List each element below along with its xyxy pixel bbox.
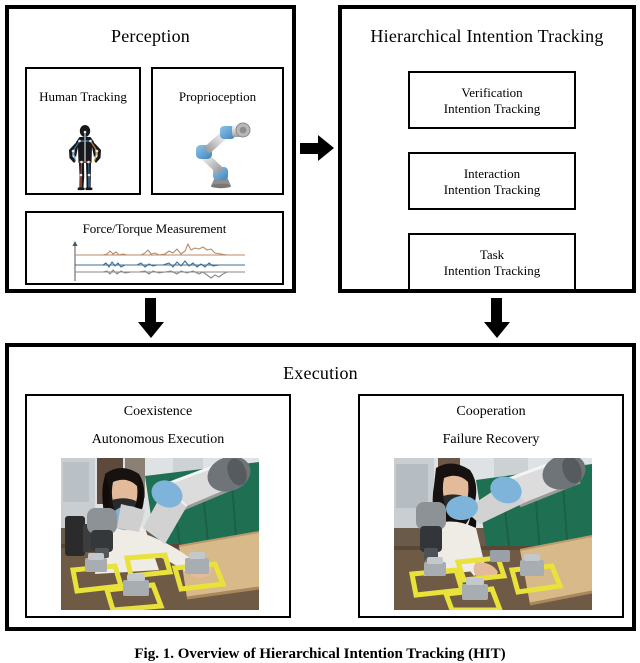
interaction-line2: Intention Tracking xyxy=(410,182,574,198)
interaction-intention-tracking-box: Interaction Intention Tracking xyxy=(408,152,576,210)
arrow-shaft xyxy=(145,298,156,324)
coexistence-subtitle-label: Autonomous Execution xyxy=(27,432,289,447)
force-torque-label: Force/Torque Measurement xyxy=(27,221,282,236)
proprioception-label: Proprioception xyxy=(153,89,282,104)
interaction-line1: Interaction xyxy=(410,166,574,182)
perception-panel: Perception Human Tracking xyxy=(5,5,296,293)
cooperation-subtitle-label: Failure Recovery xyxy=(360,432,622,447)
task-intention-tracking-box: Task Intention Tracking xyxy=(408,233,576,291)
coexistence-mode-label: Coexistence xyxy=(27,404,289,419)
human-tracking-box: Human Tracking xyxy=(25,67,141,195)
human-skeleton-icon xyxy=(60,123,110,191)
arrow-head xyxy=(318,135,334,161)
coexistence-box: Coexistence Autonomous Execution xyxy=(25,394,291,618)
perception-to-execution-arrow xyxy=(138,298,164,340)
robot-arm-icon xyxy=(185,117,257,189)
arrow-head xyxy=(138,322,164,338)
task-line1: Task xyxy=(410,247,574,263)
lab-photo-autonomous-execution xyxy=(61,458,259,610)
hierarchical-intention-tracking-panel: Hierarchical Intention Tracking Verifica… xyxy=(338,5,636,293)
arrow-shaft xyxy=(300,143,320,154)
verification-line1: Verification xyxy=(410,85,574,101)
execution-panel: Execution Coexistence Autonomous Executi… xyxy=(5,343,636,631)
lab-photo-failure-recovery xyxy=(394,458,592,610)
arrow-head xyxy=(484,322,510,338)
cooperation-mode-label: Cooperation xyxy=(360,404,622,419)
arrow-shaft xyxy=(491,298,502,324)
perception-title: Perception xyxy=(9,26,292,46)
cooperation-box: Cooperation Failure Recovery xyxy=(358,394,624,618)
task-line2: Intention Tracking xyxy=(410,263,574,279)
force-torque-box: Force/Torque Measurement xyxy=(25,211,284,285)
human-tracking-label: Human Tracking xyxy=(27,89,139,104)
verification-intention-tracking-box: Verification Intention Tracking xyxy=(408,71,576,129)
execution-title: Execution xyxy=(9,363,632,383)
hit-to-execution-arrow xyxy=(484,298,510,340)
figure-caption: Fig. 1. Overview of Hierarchical Intenti… xyxy=(0,645,640,663)
proprioception-box: Proprioception xyxy=(151,67,284,195)
hit-title: Hierarchical Intention Tracking xyxy=(342,26,632,46)
figure-root: Perception Human Tracking xyxy=(0,0,640,660)
signal-plot-icon xyxy=(69,241,249,283)
perception-to-hit-arrow xyxy=(300,135,334,161)
verification-line2: Intention Tracking xyxy=(410,101,574,117)
